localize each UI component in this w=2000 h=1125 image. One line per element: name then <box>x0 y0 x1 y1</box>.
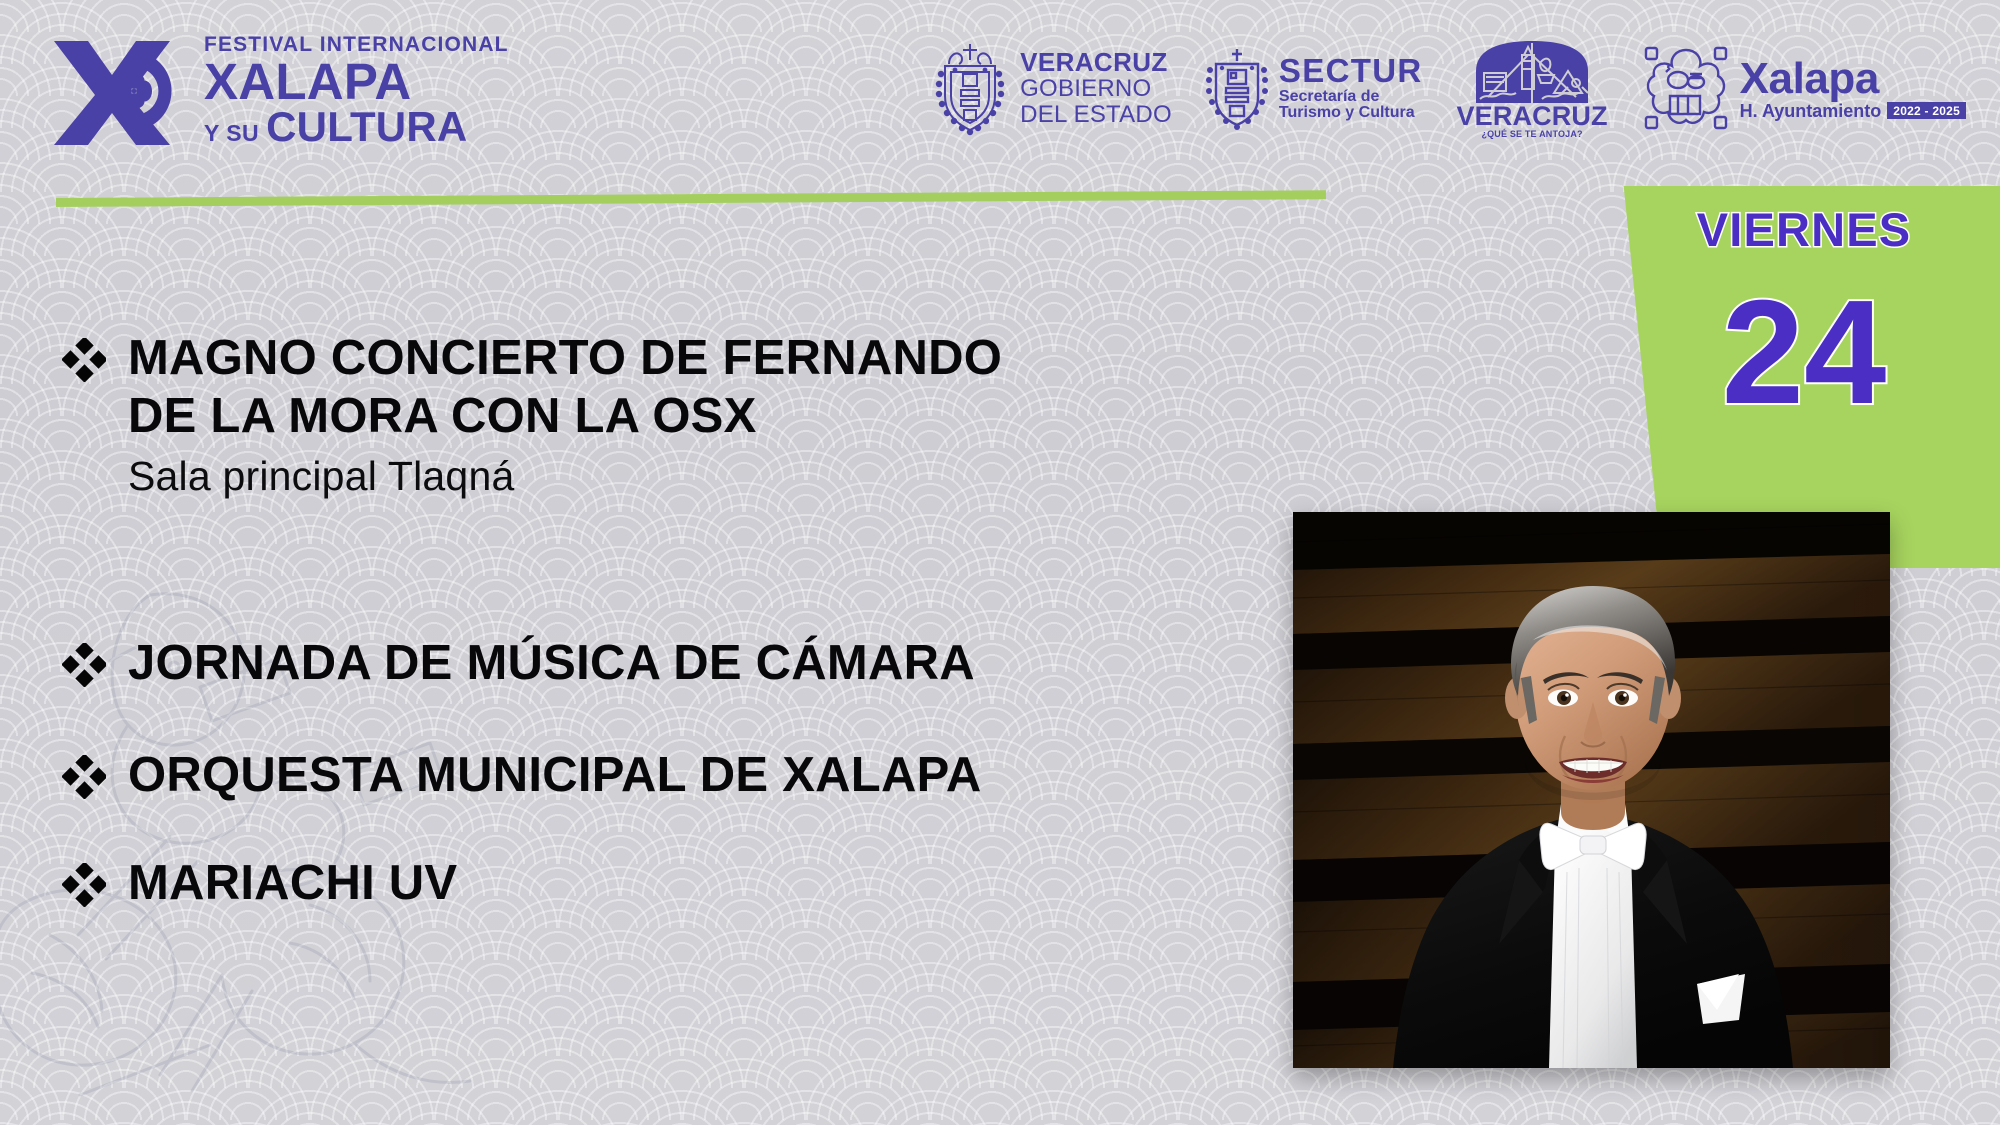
four-diamond-bullet-icon <box>62 755 106 799</box>
veracruz-gobierno-line2: GOBIERNO <box>1020 76 1172 101</box>
list-item-title: ORQUESTA MUNICIPAL DE XALAPA <box>128 747 1242 805</box>
header: FESTIVAL INTERNACIONAL XALAPA Y SU CULTU… <box>0 0 2000 190</box>
institution-sectur: SECTUR Secretaría de Turismo y Cultura <box>1206 36 1423 140</box>
four-diamond-bullet-icon <box>62 338 106 382</box>
list-item-title-line: ORQUESTA MUNICIPAL DE XALAPA <box>128 747 1242 805</box>
list-item: MAGNO CONCIERTO DE FERNANDO DE LA MORA C… <box>62 330 1242 503</box>
sectur-line2: Secretaría de <box>1279 89 1423 106</box>
list-item-venue: Sala principal Tlaqná <box>128 453 514 499</box>
list-item: JORNADA DE MÚSICA DE CÁMARA <box>62 635 1242 693</box>
institution-veracruz-gobierno: VERACRUZ GOBIERNO DEL ESTADO <box>931 36 1172 140</box>
list-item-title-line: MARIACHI UV <box>128 855 1242 913</box>
festival-line3-big: CULTURA <box>266 106 467 148</box>
list-item-title-line: DE LA MORA CON LA OSX <box>128 388 1242 446</box>
list-item-title: JORNADA DE MÚSICA DE CÁMARA <box>128 635 1242 693</box>
poster-canvas: FESTIVAL INTERNACIONAL XALAPA Y SU CULTU… <box>0 0 2000 1125</box>
veracruz-turismo-line1: VERACRUZ <box>1457 101 1608 132</box>
program-list: MAGNO CONCIERTO DE FERNANDO DE LA MORA C… <box>62 330 1242 913</box>
list-item-title-line: MAGNO CONCIERTO DE FERNANDO <box>128 330 1242 388</box>
institution-logos: VERACRUZ GOBIERNO DEL ESTADO <box>931 36 1966 140</box>
veracruz-tourism-icon <box>1468 37 1596 105</box>
xalapa-line2: H. Ayuntamiento <box>1740 102 1882 120</box>
list-item: ORQUESTA MUNICIPAL DE XALAPA <box>62 747 1242 805</box>
sectur-crest-icon <box>1206 46 1268 130</box>
festival-line3-small: Y SU <box>204 122 259 145</box>
veracruz-state-crest-icon <box>931 40 1009 136</box>
spacer <box>62 693 1242 747</box>
veracruz-turismo-line2: ¿QUÉ SE TE ANTOJA? <box>1481 129 1582 139</box>
institution-xalapa-ayuntamiento: Xalapa H. Ayuntamiento 2022 - 2025 <box>1642 44 1966 132</box>
sectur-line1: SECTUR <box>1279 54 1423 89</box>
list-item: MARIACHI UV <box>62 855 1242 913</box>
veracruz-gobierno-line1: VERACRUZ <box>1020 49 1172 77</box>
xalapa-years-badge: 2022 - 2025 <box>1887 102 1966 119</box>
four-diamond-bullet-icon <box>62 863 106 907</box>
date-day-of-week: VIERNES <box>1697 202 1912 257</box>
four-diamond-bullet-icon <box>62 643 106 687</box>
institution-veracruz-turismo: VERACRUZ ¿QUÉ SE TE ANTOJA? <box>1457 37 1608 139</box>
festival-logo: FESTIVAL INTERNACIONAL XALAPA Y SU CULTU… <box>52 34 509 148</box>
veracruz-gobierno-line3: DEL ESTADO <box>1020 102 1172 127</box>
list-item-title: MARIACHI UV <box>128 855 1242 913</box>
xalapa-line1: Xalapa <box>1740 57 1966 101</box>
list-item-title-line: JORNADA DE MÚSICA DE CÁMARA <box>128 635 1242 693</box>
festival-line1: FESTIVAL INTERNACIONAL <box>204 34 509 55</box>
list-item-title: MAGNO CONCIERTO DE FERNANDO DE LA MORA C… <box>128 330 1242 446</box>
date-banner: VIERNES 24 <box>1608 150 2000 568</box>
xalapa-flower-icon <box>1642 44 1730 132</box>
xc-monogram-icon <box>52 37 182 145</box>
spacer <box>62 805 1242 855</box>
date-day-number: 24 <box>1722 279 1887 427</box>
sectur-line3: Turismo y Cultura <box>1279 105 1423 122</box>
artist-portrait <box>1293 512 1890 1068</box>
festival-line2: XALAPA <box>204 58 509 106</box>
spacer <box>62 503 1242 635</box>
